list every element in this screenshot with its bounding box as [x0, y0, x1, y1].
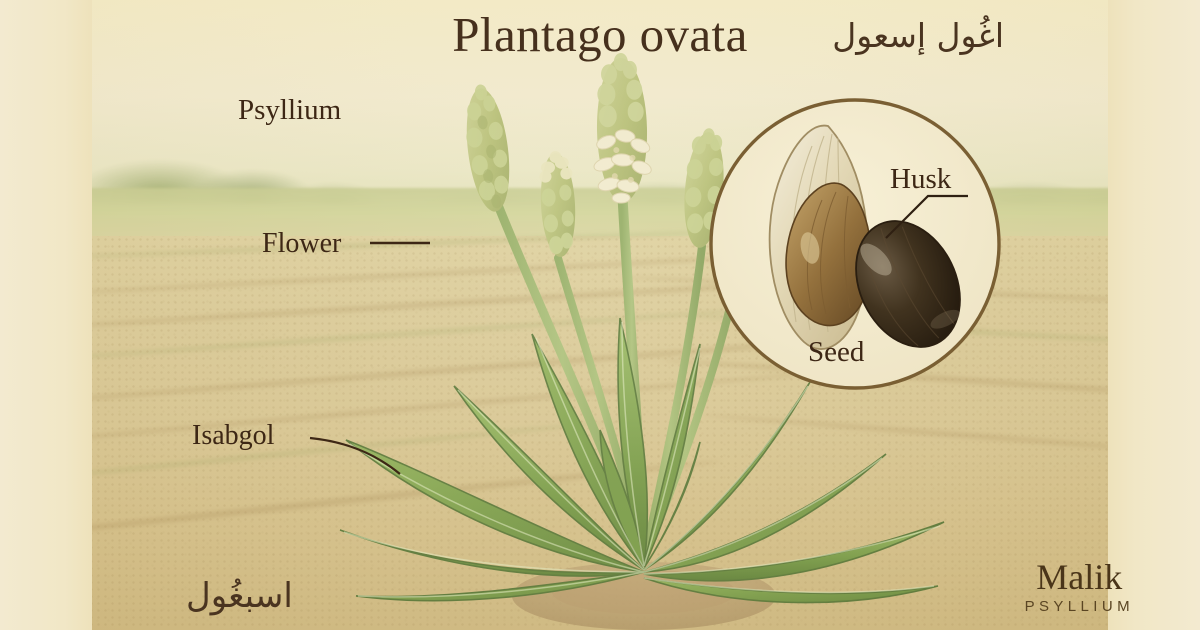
label-psyllium: Psyllium [238, 94, 341, 127]
arabic-name-top: اغُول إسعول [832, 16, 1004, 55]
botanical-poster: Plantago ovata اغُول إسعول اسبغُول Psyll… [0, 0, 1200, 630]
right-border-strip [1108, 0, 1200, 630]
label-isabgol: Isabgol [192, 420, 274, 452]
label-seed: Seed [808, 336, 864, 369]
page-title: Plantago ovata [0, 6, 1200, 63]
brand-name: Malik [1025, 559, 1134, 595]
brand-tagline: PSYLLIUM [1025, 599, 1134, 614]
urdu-name-bottom: اسبغُول [186, 576, 293, 616]
brand-lockup: Malik PSYLLIUM [1025, 559, 1134, 614]
left-border-strip [0, 0, 92, 630]
label-flower: Flower [262, 228, 341, 260]
label-husk: Husk [890, 163, 951, 196]
